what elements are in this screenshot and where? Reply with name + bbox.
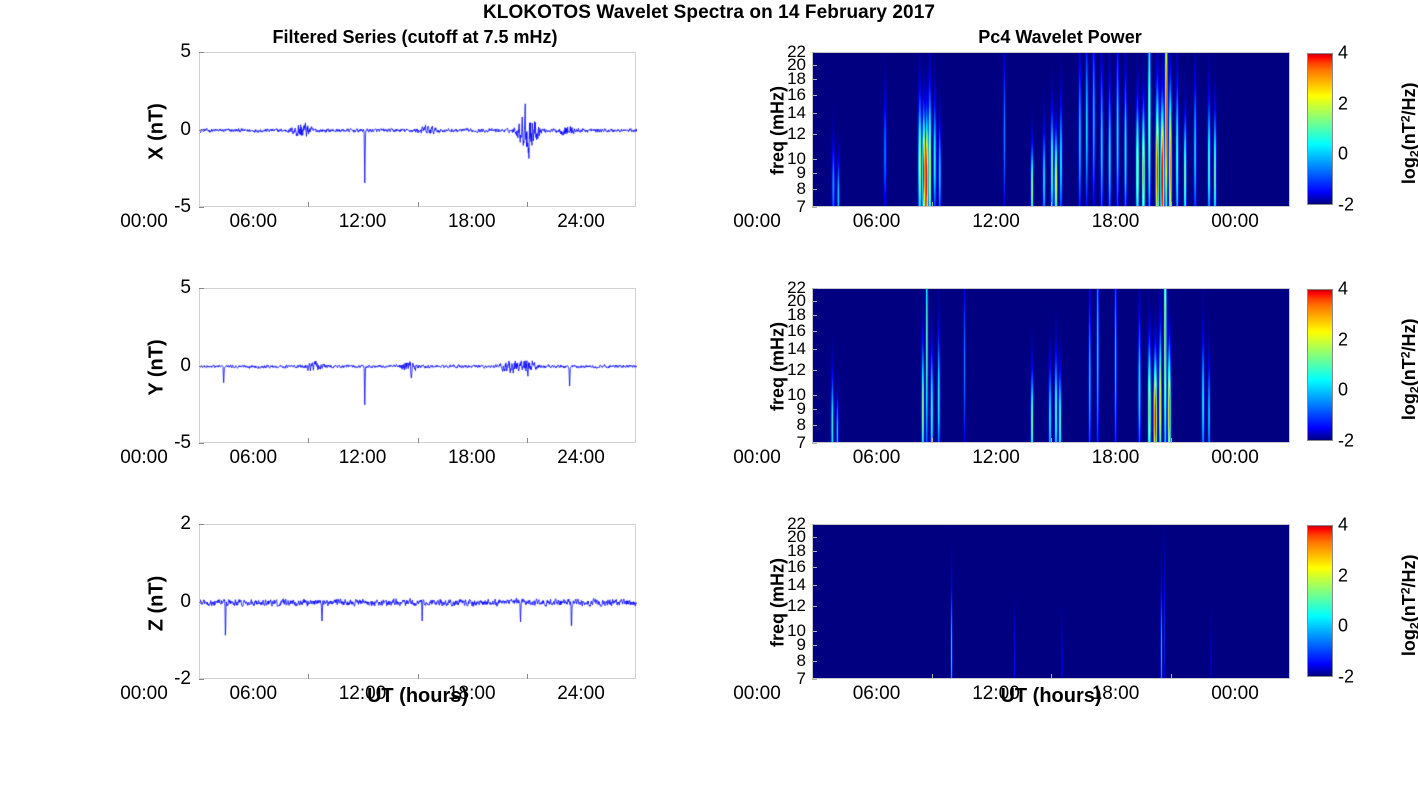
z-series-trace [200,525,637,680]
x-tick-mark [1171,674,1172,679]
x-tick-label: 06:00 [822,683,932,705]
colorbar-tick-label: -2 [1338,431,1354,452]
freq-tick-mark [812,425,817,426]
y-spectrogram-axes [812,288,1290,443]
freq-tick-label: 14 [764,103,806,123]
x-series-axes [199,52,636,207]
y-tick-label: 0 [141,355,191,377]
x-tick-label: 12:00 [941,683,1051,705]
x-tick-mark [308,202,309,207]
freq-tick-mark [812,537,817,538]
freq-tick-mark [812,79,817,80]
x-tick-mark [1051,438,1052,443]
x-tick-label: 00:00 [1180,683,1290,705]
x-tick-label: 06:00 [198,447,308,469]
freq-tick-label: 12 [764,596,806,616]
freq-tick-mark [812,207,817,208]
y-series-axes [199,288,636,443]
x-tick-label: 18:00 [417,683,527,705]
x-tick-label: 12:00 [308,683,418,705]
freq-tick-mark [812,606,817,607]
y-spectrogram-image [813,289,1290,443]
x-tick-label: 00:00 [89,447,199,469]
y-tick-label: 2 [141,513,191,535]
x-tick-label: 06:00 [198,211,308,233]
colorbar-tick-label: 0 [1338,616,1348,637]
x-tick-label: 00:00 [702,683,812,705]
x-tick-label: 18:00 [417,211,527,233]
y-tick-mark [199,130,204,131]
y-colorbar-label: log2(nT2/Hz) [1399,284,1418,454]
freq-tick-mark [812,661,817,662]
freq-tick-mark [812,65,817,66]
colorbar-tick-label: 2 [1338,329,1348,350]
x-colorbar [1307,53,1333,205]
freq-tick-label: 8 [764,179,806,199]
colorbar-tick-label: 4 [1338,515,1348,536]
freq-tick-mark [812,395,817,396]
figure-canvas: KLOKOTOS Wavelet Spectra on 14 February … [0,0,1418,788]
x-tick-label: 00:00 [702,211,812,233]
x-tick-mark [418,202,419,207]
freq-tick-mark [812,95,817,96]
colorbar-tick-label: 4 [1338,43,1348,64]
x-tick-mark [932,674,933,679]
x-tick-label: 06:00 [822,211,932,233]
left-column-title: Filtered Series (cutoff at 7.5 mHz) [195,27,635,48]
x-tick-label: 18:00 [417,447,527,469]
y-tick-mark [199,288,204,289]
z-colorbar-label: log2(nT2/Hz) [1399,520,1418,690]
y-tick-label: 5 [141,277,191,299]
y-tick-mark [199,207,204,208]
freq-tick-mark [812,113,817,114]
x-tick-label: 18:00 [1061,683,1171,705]
figure-title: KLOKOTOS Wavelet Spectra on 14 February … [0,2,1418,24]
x-tick-label: 24:00 [526,211,636,233]
freq-tick-label: 16 [764,321,806,341]
x-tick-mark [932,202,933,207]
x-tick-mark [1051,674,1052,679]
x-colorbar-label: log2(nT2/Hz) [1399,48,1418,218]
y-tick-mark [199,524,204,525]
y-tick-mark [199,443,204,444]
x-tick-mark [418,438,419,443]
x-tick-label: 00:00 [1180,447,1290,469]
y-series-trace [200,289,637,444]
x-tick-label: 00:00 [702,447,812,469]
right-column-title: Pc4 Wavelet Power [840,27,1280,48]
x-tick-label: 24:00 [526,447,636,469]
freq-tick-mark [812,567,817,568]
x-tick-mark [527,438,528,443]
freq-tick-mark [812,189,817,190]
freq-tick-label: 16 [764,85,806,105]
x-tick-label: 00:00 [89,211,199,233]
y-tick-mark [199,52,204,53]
colorbar-tick-label: -2 [1338,667,1354,688]
x-tick-label: 06:00 [822,447,932,469]
y-tick-mark [199,366,204,367]
x-tick-label: 12:00 [941,211,1051,233]
y-tick-label: 5 [141,41,191,63]
x-tick-label: 00:00 [89,683,199,705]
x-tick-mark [527,202,528,207]
freq-tick-label: 12 [764,124,806,144]
colorbar-tick-label: 2 [1338,93,1348,114]
x-tick-mark [1171,202,1172,207]
x-series-trace [200,53,637,208]
freq-tick-mark [812,631,817,632]
freq-tick-mark [812,370,817,371]
x-spectrogram-axes [812,52,1290,207]
y-tick-mark [199,679,204,680]
freq-tick-label: 14 [764,575,806,595]
x-tick-label: 18:00 [1061,211,1171,233]
colorbar-tick-label: 0 [1338,144,1348,165]
freq-tick-mark [812,551,817,552]
x-tick-label: 12:00 [308,211,418,233]
freq-tick-mark [812,645,817,646]
x-spectrogram-image [813,53,1290,207]
y-tick-label: 0 [141,591,191,613]
y-tick-mark [199,602,204,603]
freq-tick-mark [812,301,817,302]
freq-tick-mark [812,679,817,680]
z-series-axes [199,524,636,679]
x-tick-mark [1171,438,1172,443]
colorbar-tick-label: -2 [1338,195,1354,216]
x-tick-mark [418,674,419,679]
y-colorbar [1307,289,1333,441]
x-tick-label: 12:00 [941,447,1051,469]
colorbar-tick-label: 4 [1338,279,1348,300]
freq-tick-label: 8 [764,651,806,671]
freq-tick-label: 12 [764,360,806,380]
freq-tick-mark [812,443,817,444]
freq-tick-mark [812,52,817,53]
freq-tick-mark [812,173,817,174]
x-tick-mark [1051,202,1052,207]
y-tick-label: 0 [141,119,191,141]
colorbar-tick-label: 0 [1338,380,1348,401]
freq-tick-mark [812,585,817,586]
freq-tick-mark [812,159,817,160]
x-tick-label: 06:00 [198,683,308,705]
freq-tick-mark [812,349,817,350]
x-tick-mark [527,674,528,679]
freq-tick-mark [812,524,817,525]
x-tick-label: 18:00 [1061,447,1171,469]
x-tick-mark [308,438,309,443]
x-tick-label: 00:00 [1180,211,1290,233]
z-spectrogram-image [813,525,1290,679]
colorbar-tick-label: 2 [1338,565,1348,586]
freq-tick-mark [812,409,817,410]
z-colorbar [1307,525,1333,677]
x-tick-mark [932,438,933,443]
freq-tick-label: 16 [764,557,806,577]
freq-tick-mark [812,288,817,289]
freq-tick-mark [812,134,817,135]
freq-tick-label: 8 [764,415,806,435]
x-tick-label: 12:00 [308,447,418,469]
freq-tick-mark [812,331,817,332]
z-spectrogram-axes [812,524,1290,679]
x-tick-mark [308,674,309,679]
freq-tick-label: 14 [764,339,806,359]
x-tick-label: 24:00 [526,683,636,705]
freq-tick-mark [812,315,817,316]
